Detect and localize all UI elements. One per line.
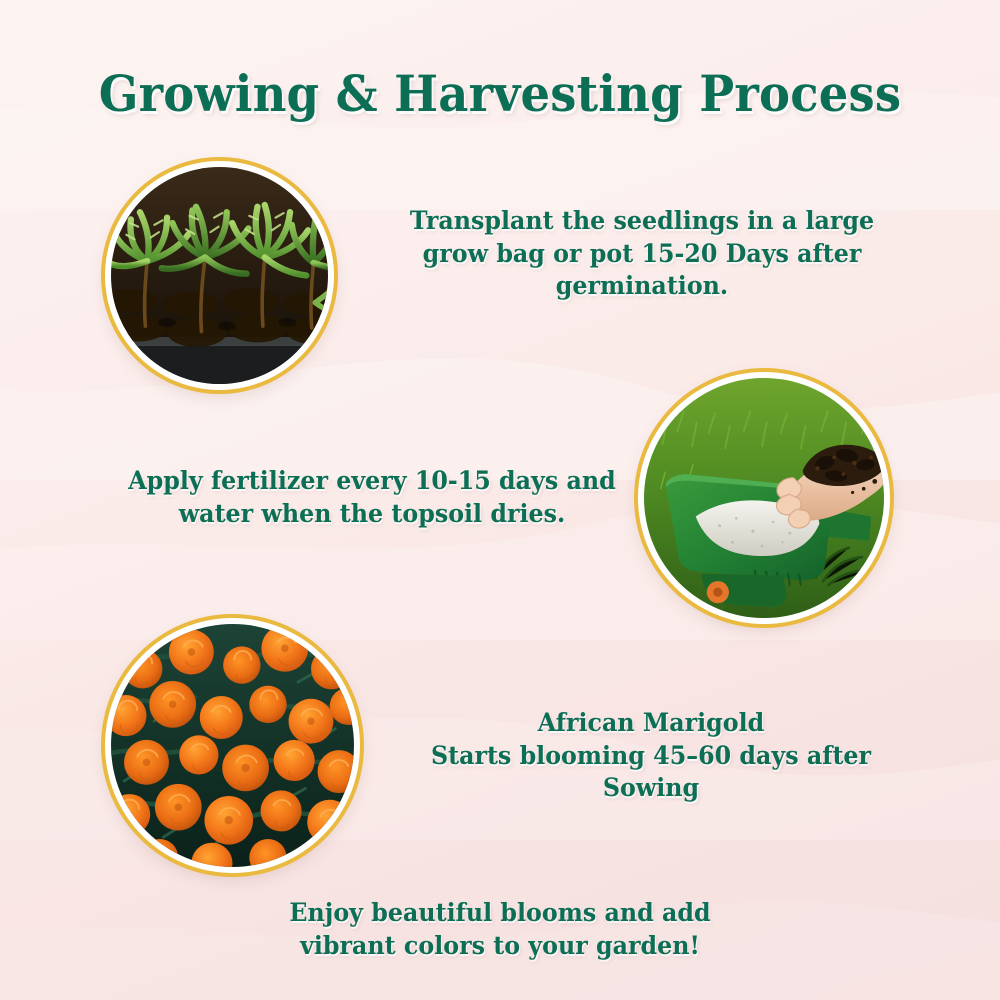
step-text-line: Apply fertilizer every 10-15 days and <box>106 465 638 498</box>
step-text-line: Sowing <box>405 772 897 805</box>
closing-text-line: vibrant colors to your garden! <box>251 930 749 963</box>
seedling-tray-illustration <box>111 167 328 384</box>
fertilizer-spreader-illustration <box>644 378 884 618</box>
step-text-transplant: Transplant the seedlings in a large grow… <box>405 205 880 303</box>
closing-text-enjoy: Enjoy beautiful blooms and add vibrant c… <box>251 897 749 962</box>
step-text-line: Starts blooming 45–60 days after <box>405 740 897 773</box>
step-text-fertilize: Apply fertilizer every 10-15 days and wa… <box>106 465 638 530</box>
step-text-bloom: African Marigold Starts blooming 45–60 d… <box>405 707 897 805</box>
marigold-bloom-field-illustration <box>111 624 354 867</box>
photo-marigold-blooms <box>105 618 360 873</box>
closing-text-line: Enjoy beautiful blooms and add <box>251 897 749 930</box>
photo-marigold-seedlings <box>105 161 334 390</box>
photo-fertilizer-spreader <box>638 372 890 624</box>
step-text-line: germination. <box>405 270 880 303</box>
step-text-line: water when the topsoil dries. <box>106 498 638 531</box>
infographic-poster: Growing & Harvesting Process <box>0 0 1000 1000</box>
step-text-line: African Marigold <box>405 707 897 740</box>
step-text-line: grow bag or pot 15-20 Days after <box>405 238 880 271</box>
page-title: Growing & Harvesting Process <box>35 64 965 123</box>
step-text-line: Transplant the seedlings in a large <box>405 205 880 238</box>
